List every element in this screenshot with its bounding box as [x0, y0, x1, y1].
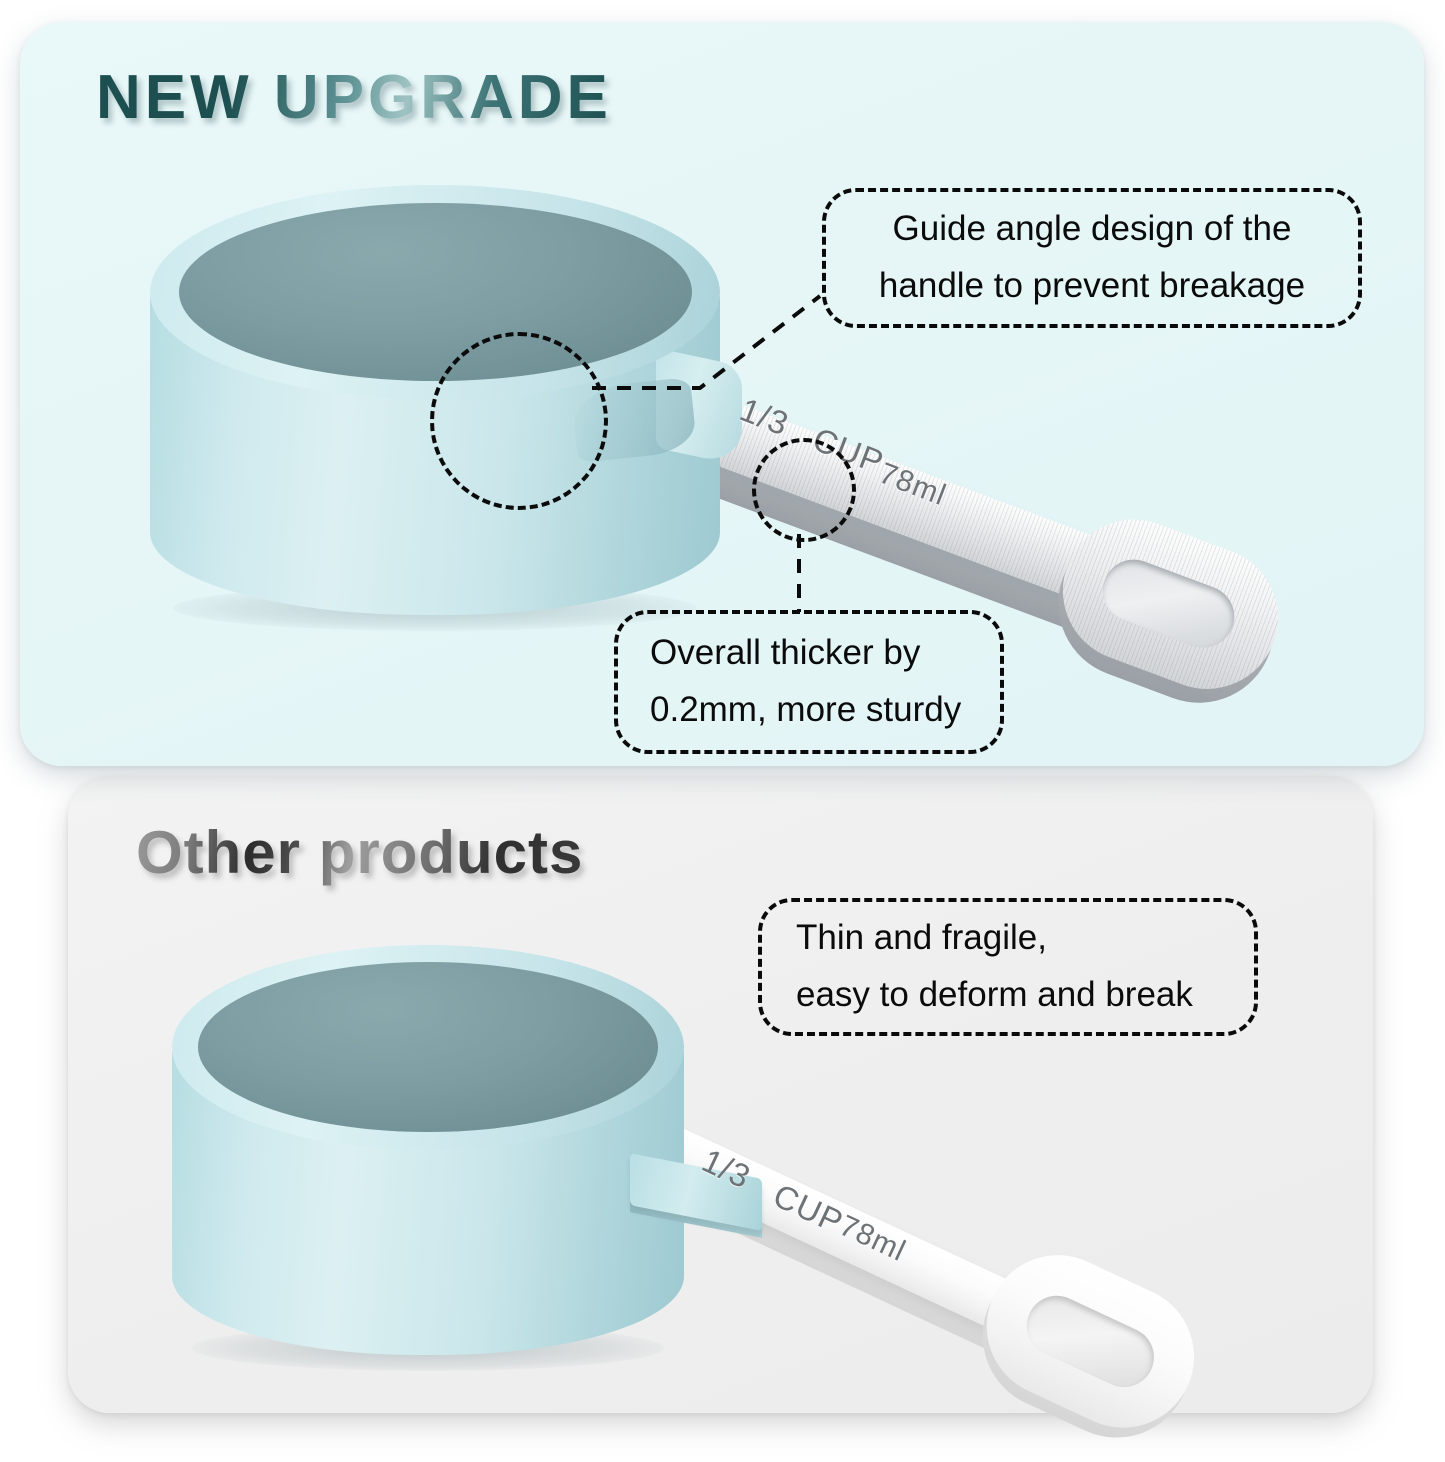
annotation-circle-thickness	[752, 438, 856, 542]
callout-thickness-line-1: Overall thicker by	[650, 625, 1000, 682]
callout-guide-line-2: handle to prevent breakage	[879, 258, 1305, 315]
callout-guide-angle: Guide angle design of the handle to prev…	[822, 188, 1362, 328]
infographic-stage: NEW UPGRADE 1/3 CUP 78ml Guide angle des…	[0, 0, 1445, 1445]
callout-fragile: Thin and fragile, easy to deform and bre…	[758, 898, 1258, 1036]
leader-guide-angle	[592, 296, 820, 388]
callout-thickness: Overall thicker by 0.2mm, more sturdy	[614, 610, 1004, 754]
annotation-circle-guide-angle	[430, 332, 608, 510]
callout-fragile-line-1: Thin and fragile,	[796, 910, 1254, 967]
callout-fragile-line-2: easy to deform and break	[796, 967, 1254, 1024]
callout-thickness-line-2: 0.2mm, more sturdy	[650, 682, 1000, 739]
callout-guide-line-1: Guide angle design of the	[893, 201, 1292, 258]
